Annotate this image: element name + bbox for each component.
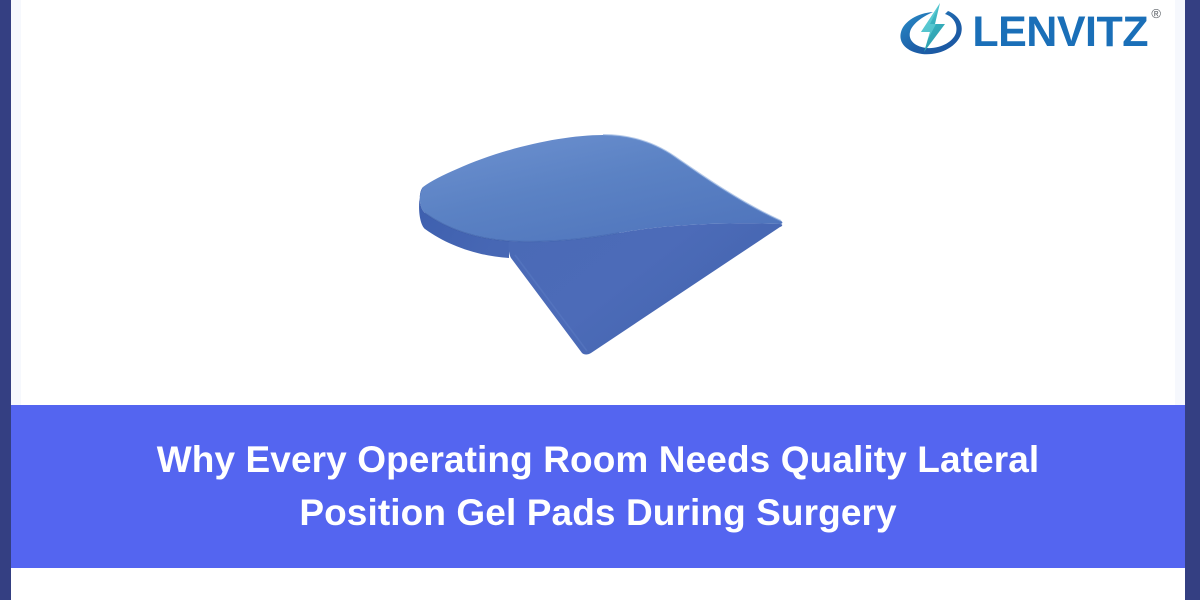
page-title: Why Every Operating Room Needs Quality L… [133,434,1063,539]
title-banner: Why Every Operating Room Needs Quality L… [11,405,1185,568]
brand-logo[interactable]: LENVITZ ® [896,2,1148,60]
brand-name-text: LENVITZ [972,8,1148,56]
right-border-rail [1185,0,1200,600]
lenvitz-swoosh-bolt-logo-icon [896,2,970,60]
registered-trademark-icon: ® [1151,7,1161,20]
hero-image-area [21,70,1175,405]
footer-strip [11,568,1185,600]
left-border-rail [0,0,11,600]
page-root: LENVITZ ® [0,0,1200,600]
brand-wordmark: LENVITZ ® [972,11,1148,54]
header: LENVITZ ® [0,0,1200,70]
lateral-position-gel-pad-wedge-icon [391,125,811,365]
